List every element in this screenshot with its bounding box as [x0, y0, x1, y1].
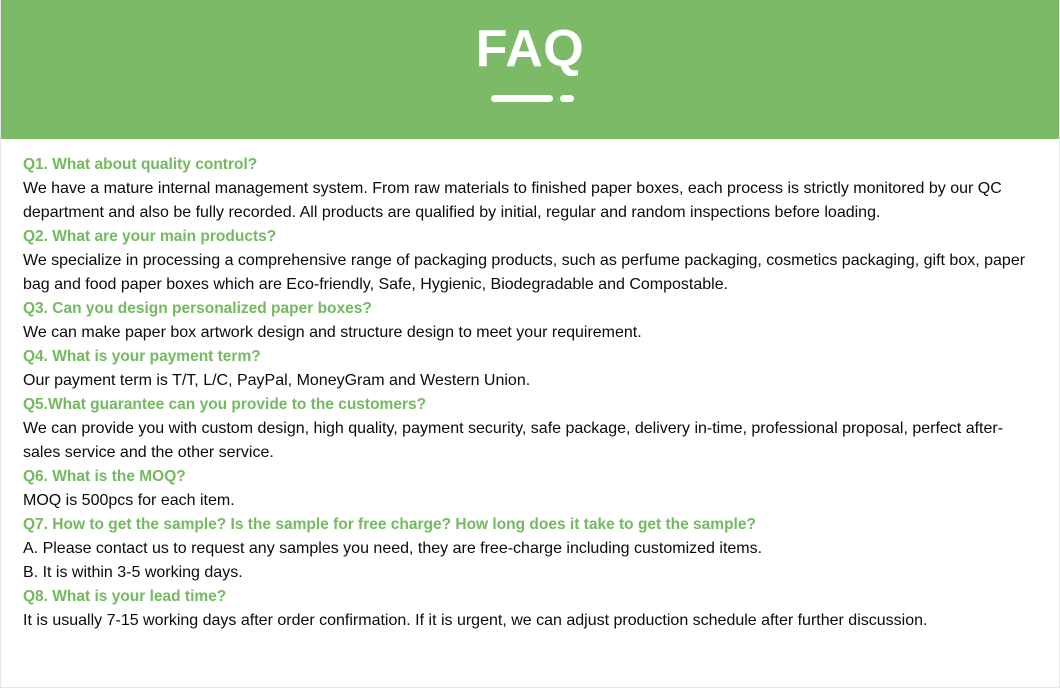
divider-long-bar-icon — [491, 95, 553, 102]
faq-answer-3: We can make paper box artwork design and… — [23, 321, 1037, 345]
faq-item-6: Q6. What is the MOQ? MOQ is 500pcs for e… — [23, 465, 1037, 513]
faq-item-1: Q1. What about quality control? We have … — [23, 153, 1037, 225]
faq-item-7: Q7. How to get the sample? Is the sample… — [23, 513, 1037, 585]
faq-answer-8: It is usually 7-15 working days after or… — [23, 609, 1037, 633]
divider-short-bar-icon — [560, 95, 574, 102]
faq-question-5: Q5.What guarantee can you provide to the… — [23, 393, 1037, 417]
faq-answer-5: We can provide you with custom design, h… — [23, 417, 1037, 465]
faq-question-4: Q4. What is your payment term? — [23, 345, 1037, 369]
title-divider — [491, 95, 574, 102]
faq-answer-1: We have a mature internal management sys… — [23, 177, 1037, 225]
page-title: FAQ — [476, 20, 584, 78]
faq-question-8: Q8. What is your lead time? — [23, 585, 1037, 609]
faq-answer-6: MOQ is 500pcs for each item. — [23, 489, 1037, 513]
faq-question-2: Q2. What are your main products? — [23, 225, 1037, 249]
faq-header-banner: FAQ — [1, 0, 1059, 139]
faq-list: Q1. What about quality control? We have … — [1, 139, 1059, 633]
faq-answer-2: We specialize in processing a comprehens… — [23, 249, 1037, 297]
faq-item-3: Q3. Can you design personalized paper bo… — [23, 297, 1037, 345]
faq-answer-7b: B. It is within 3-5 working days. — [23, 561, 1037, 585]
faq-page: FAQ Q1. What about quality control? We h… — [0, 0, 1060, 688]
faq-question-7: Q7. How to get the sample? Is the sample… — [23, 513, 1037, 537]
faq-item-8: Q8. What is your lead time? It is usuall… — [23, 585, 1037, 633]
faq-item-5: Q5.What guarantee can you provide to the… — [23, 393, 1037, 465]
faq-question-3: Q3. Can you design personalized paper bo… — [23, 297, 1037, 321]
faq-answer-4: Our payment term is T/T, L/C, PayPal, Mo… — [23, 369, 1037, 393]
faq-answer-7a: A. Please contact us to request any samp… — [23, 537, 1037, 561]
faq-item-2: Q2. What are your main products? We spec… — [23, 225, 1037, 297]
faq-question-1: Q1. What about quality control? — [23, 153, 1037, 177]
faq-item-4: Q4. What is your payment term? Our payme… — [23, 345, 1037, 393]
faq-question-6: Q6. What is the MOQ? — [23, 465, 1037, 489]
